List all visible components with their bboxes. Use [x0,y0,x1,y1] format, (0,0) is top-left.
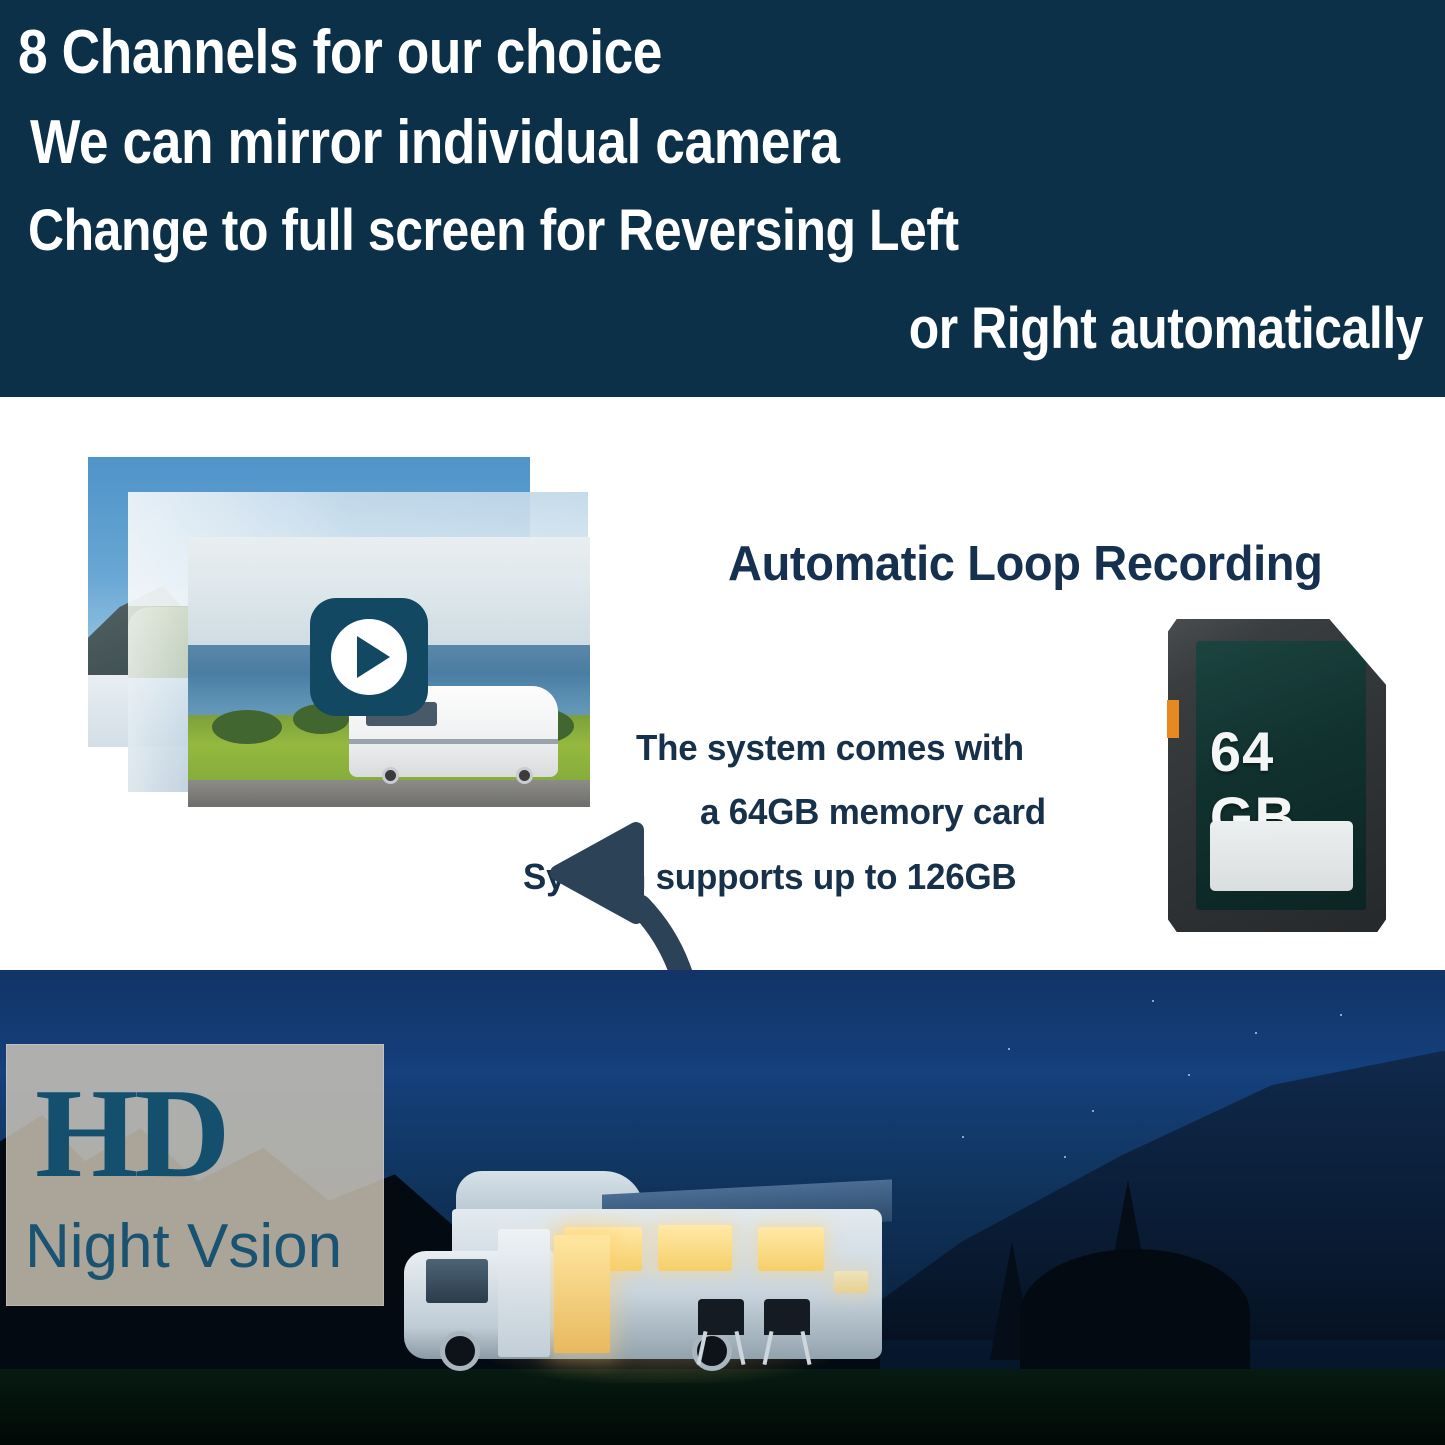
memory-line-1: The system comes with [636,727,1024,769]
chair-leg [763,1331,774,1365]
play-triangle [357,636,390,678]
rv-door [498,1229,550,1357]
rv-window [758,1227,824,1271]
chair-leg [735,1331,746,1365]
header-line-4: or Right automatically [909,300,1423,358]
rv-window [834,1271,868,1293]
chair-leg [697,1331,708,1365]
rv-window [658,1225,732,1271]
rv-wheel [440,1331,480,1371]
memory-line-2: a 64GB memory card [700,791,1046,833]
road-layer [188,780,590,807]
sd-card-panel: 64 GB [1196,641,1366,910]
rv-door-light [554,1235,610,1353]
tree-clump [1020,1249,1250,1379]
sd-card-label-area [1210,821,1353,891]
sd-write-protect-tab [1167,700,1179,738]
product-infographic: 8 Channels for our choice We can mirror … [0,0,1445,1445]
rv-windshield [426,1259,488,1303]
loop-recording-title: Automatic Loop Recording [728,536,1322,592]
chair-leg [801,1331,812,1365]
header-line-1: 8 Channels for our choice [18,22,662,84]
chair-seat [764,1299,810,1335]
hd-logo-text: HD [35,1069,337,1197]
header-banner: 8 Channels for our choice We can mirror … [0,0,1445,397]
night-rv-vehicle [404,1151,882,1369]
camping-chair [762,1299,812,1365]
header-line-3: Change to full screen for Reversing Left [28,202,959,260]
sd-card-body: 64 GB [1168,619,1386,932]
sd-card-graphic: 64 GB [1168,619,1386,932]
hd-logo: HD [35,1069,325,1185]
loop-recording-section: Automatic Loop Recording The system come… [0,397,1445,970]
memory-line-3: System supports up to 126GB [523,856,1016,898]
hd-night-vision-badge: HD Night Vsion [6,1044,384,1306]
rv-trim [349,739,558,744]
play-icon [331,619,407,695]
chair-seat [698,1299,744,1335]
camping-chair [696,1299,746,1365]
header-line-2: We can mirror individual camera [30,112,839,174]
night-vision-caption: Night Vsion [25,1211,342,1282]
rv-wheel [516,767,533,784]
play-button[interactable] [310,598,428,716]
bush [212,710,282,744]
